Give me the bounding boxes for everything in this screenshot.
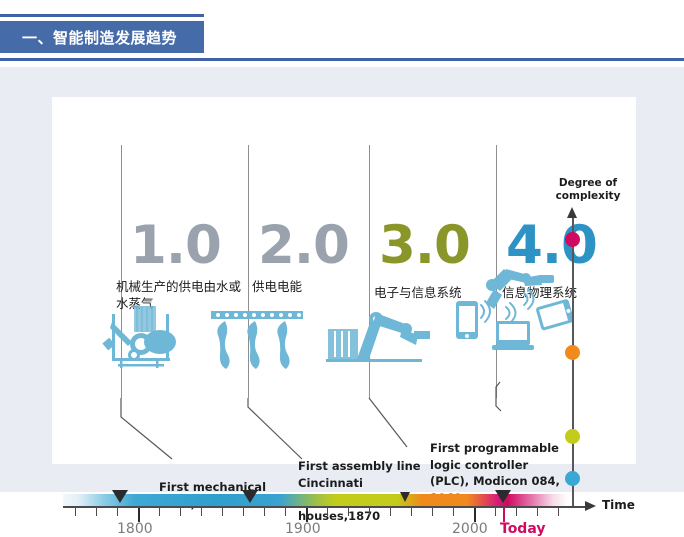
- tick: [453, 508, 454, 516]
- robot-arm-icon: [324, 307, 432, 371]
- tick-1800: [138, 508, 140, 522]
- diagram-card: 1.0 2.0 3.0 4.0 机械生产的供电由水或水蒸气 供电电能 电子与信息…: [52, 97, 636, 464]
- tick-1900: [306, 508, 308, 522]
- slide-root: 一、智能制造发展趋势 1.0 2.0: [0, 0, 684, 492]
- tick: [201, 508, 202, 516]
- tick: [411, 508, 412, 516]
- tick: [327, 508, 328, 516]
- tick: [516, 508, 517, 516]
- tick: [558, 508, 559, 516]
- tick: [537, 508, 538, 516]
- era-marker-arrow-3: [400, 492, 410, 502]
- tick: [432, 508, 433, 516]
- tick: [75, 508, 76, 516]
- era-number-1: 1.0: [130, 219, 221, 272]
- dot-industry-4: [565, 232, 580, 247]
- header-rule-bottom: [0, 58, 684, 61]
- header-banner: 一、智能制造发展趋势: [0, 21, 204, 53]
- content-stage: 1.0 2.0 3.0 4.0 机械生产的供电由水或水蒸气 供电电能 电子与信息…: [0, 67, 684, 492]
- tick: [243, 508, 244, 516]
- tick-today: [503, 508, 505, 522]
- dot-industry-1: [565, 471, 580, 486]
- tick-2000: [474, 508, 476, 522]
- era-number-2: 2.0: [258, 219, 349, 272]
- year-label-1900: 1900: [285, 521, 321, 537]
- header-rule-top: [0, 14, 204, 17]
- today-label: Today: [500, 521, 545, 537]
- tick: [390, 508, 391, 516]
- timeline-axis-label: Time: [602, 498, 635, 512]
- tick: [285, 508, 286, 516]
- complexity-axis-arrow: [567, 207, 577, 218]
- tick: [495, 508, 496, 516]
- timeline-gradient-bar: [63, 494, 568, 506]
- assembly-line-icon: [207, 309, 307, 371]
- dot-industry-2: [565, 429, 580, 444]
- year-label-2000: 2000: [452, 521, 488, 537]
- tick: [180, 508, 181, 516]
- tick: [348, 508, 349, 516]
- tick: [159, 508, 160, 516]
- era-description-2: 供电电能: [252, 279, 372, 296]
- tick: [117, 508, 118, 516]
- page-title: 一、智能制造发展趋势: [0, 27, 177, 48]
- timeline-arrow: [585, 501, 596, 511]
- connected-devices-icon: [450, 249, 578, 359]
- tick: [369, 508, 370, 516]
- tick: [222, 508, 223, 516]
- complexity-axis-line: [572, 217, 574, 507]
- mechanical-loom-icon: [98, 302, 188, 374]
- complexity-axis-label: Degree of complexity: [548, 177, 628, 203]
- tick: [96, 508, 97, 516]
- dot-industry-3: [565, 345, 580, 360]
- timeline-axis: [63, 506, 587, 508]
- year-label-1800: 1800: [117, 521, 153, 537]
- tick: [264, 508, 265, 516]
